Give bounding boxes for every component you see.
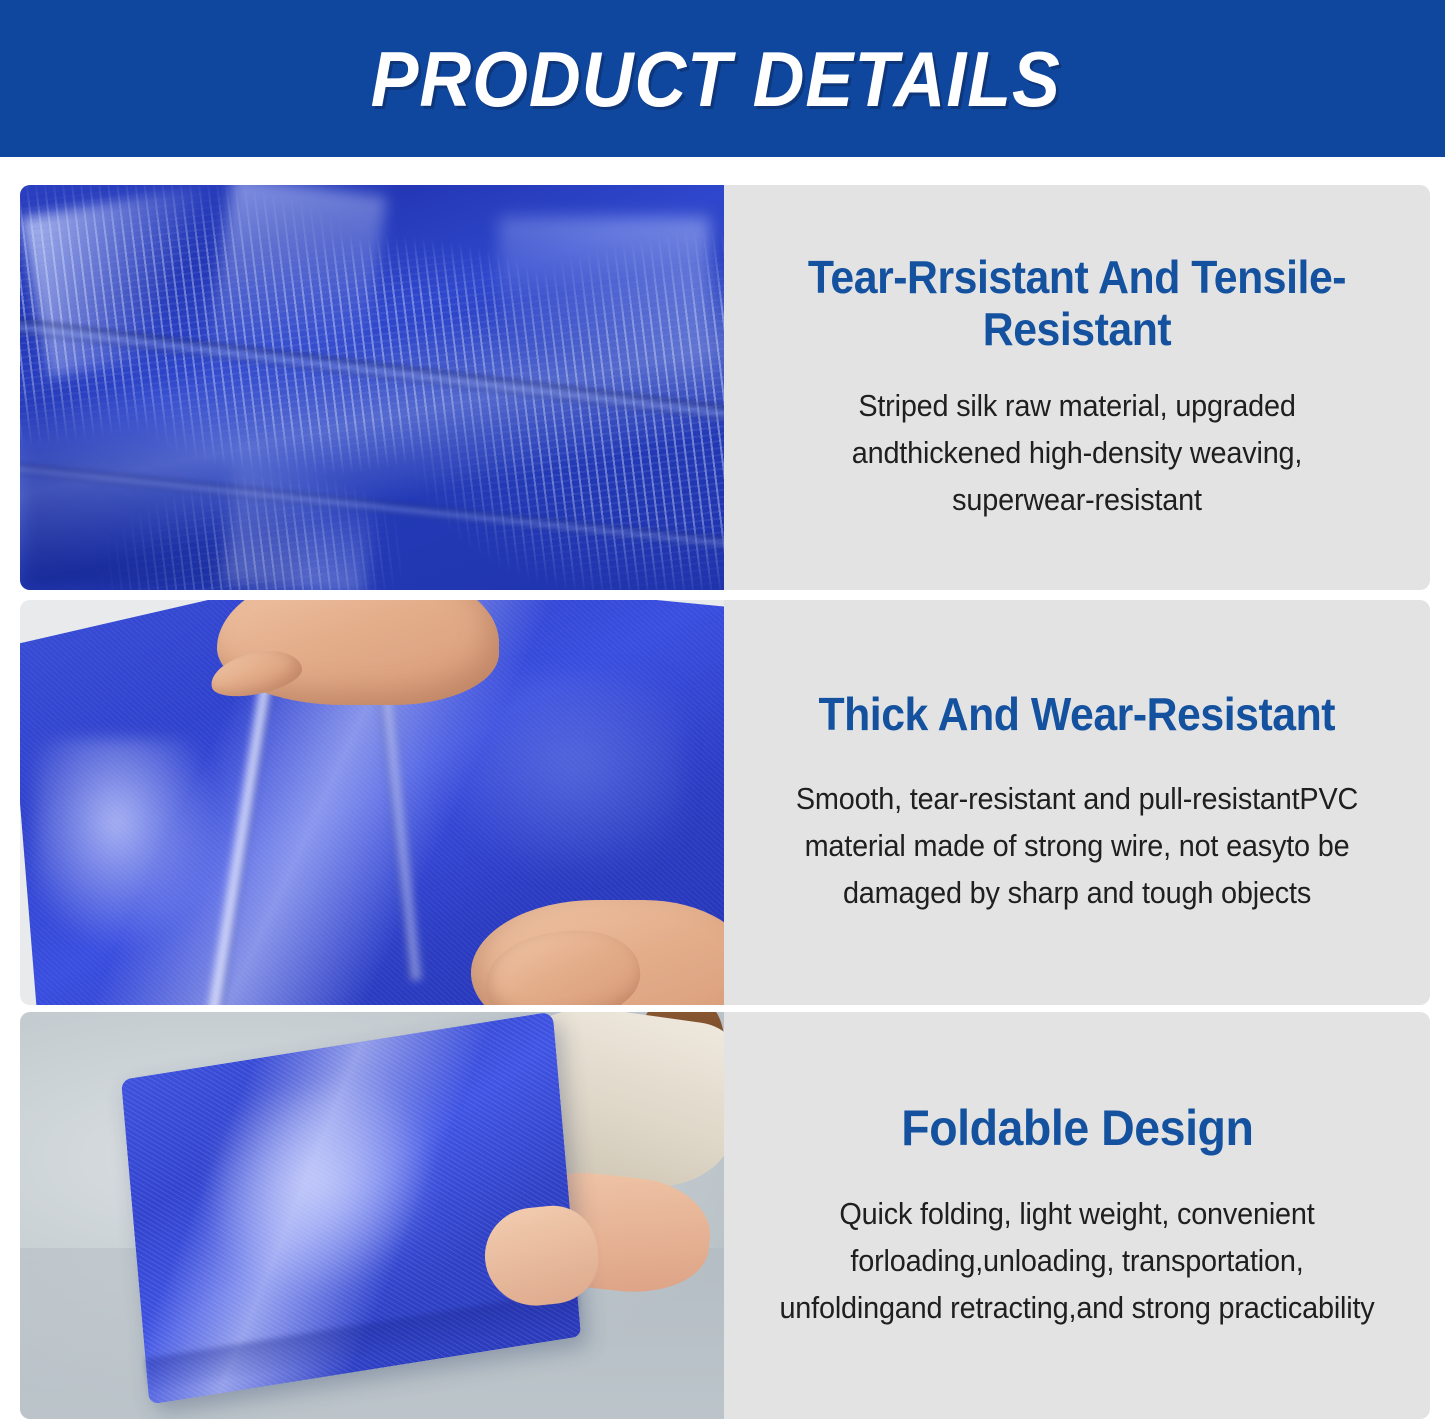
page-header-banner: PRODUCT DETAILS	[0, 0, 1445, 157]
tarp-sheen-right	[442, 673, 681, 876]
feature-image-foldable-design	[20, 1012, 724, 1419]
tarp-highlight	[202, 1070, 444, 1307]
feature-row-thick-wear-resistant: Thick And Wear-Resistant Smooth, tear-re…	[20, 600, 1430, 1005]
feature-row-foldable-design: Foldable Design Quick folding, light wei…	[20, 1012, 1430, 1419]
page-title: PRODUCT DETAILS	[371, 40, 1074, 118]
feature-description: Smooth, tear-resistant and pull-resistan…	[779, 775, 1374, 916]
feature-title: Thick And Wear-Resistant	[819, 689, 1336, 741]
feature-description: Striped silk raw material, upgraded andt…	[779, 382, 1374, 523]
feature-title: Foldable Design	[901, 1100, 1253, 1157]
feature-image-thick-wear-resistant	[20, 600, 724, 1005]
feature-row-tear-resistant: Tear-Rrsistant And Tensile-Resistant Str…	[20, 185, 1430, 590]
folded-tarp-bundle	[121, 1012, 582, 1404]
feature-image-tear-resistant	[20, 185, 724, 590]
feature-text-panel-tear-resistant: Tear-Rrsistant And Tensile-Resistant Str…	[724, 185, 1430, 590]
feature-text-panel-foldable-design: Foldable Design Quick folding, light wei…	[724, 1012, 1430, 1419]
feature-title: Tear-Rrsistant And Tensile-Resistant	[777, 252, 1378, 356]
feature-text-panel-thick-wear-resistant: Thick And Wear-Resistant Smooth, tear-re…	[724, 600, 1430, 1005]
tarp-shadow-region	[20, 379, 302, 590]
feature-description: Quick folding, light weight, convenient …	[779, 1190, 1374, 1331]
tarp-sheen-left	[34, 738, 217, 949]
feature-rows: Tear-Rrsistant And Tensile-Resistant Str…	[0, 157, 1445, 1427]
